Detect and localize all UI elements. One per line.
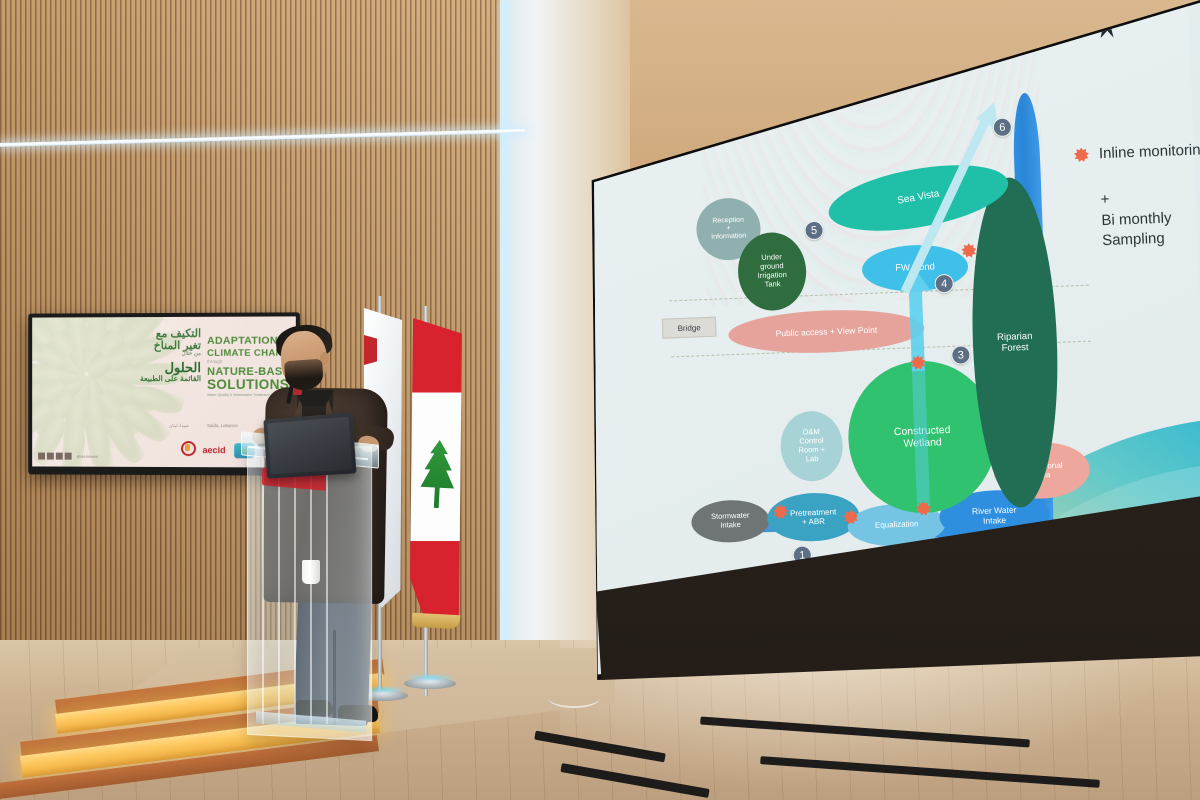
aecid-logo-text: aecid [202, 445, 225, 455]
banner-location-english: Saida, Lebanon [207, 423, 238, 428]
power-cable [548, 688, 600, 708]
led-video-wall: N Concept Plan Treatment Chain Awali Riv… [588, 0, 1200, 680]
flag-base-glow-lebanon [402, 674, 458, 681]
laptop[interactable] [263, 412, 356, 478]
facebook-icon [38, 453, 45, 460]
podium-rib-3 [294, 460, 296, 724]
linkedin-icon [65, 453, 72, 460]
institution-flag-emblem [364, 335, 377, 365]
twitter-icon [56, 453, 63, 460]
instagram-icon [47, 453, 54, 460]
slide-title-line-2: Treatment Chain [607, 71, 726, 98]
slide-title-line-1: Concept Plan [606, 48, 725, 75]
banner-arabic-line-4: الحلول [117, 361, 201, 375]
banner-en-adaptation: ADAPTATION [207, 335, 278, 347]
aecid-logo: aecid [181, 441, 226, 459]
podium-rib-2 [278, 458, 280, 724]
podium-rib-5 [326, 464, 328, 724]
presentation-photo: التكيف مع تغير المناخ من خلال الحلول الق… [0, 0, 1200, 800]
bridge-label: Bridge [662, 317, 717, 339]
lebanon-flag-fringe [412, 613, 461, 629]
legend-marker-icon [1074, 147, 1090, 163]
banner-arabic-line-3: من خلال [117, 352, 201, 358]
aecid-mark-icon [181, 441, 196, 456]
banner-arabic-line-5: القائمة على الطبيعة [117, 374, 201, 382]
banner-social-row: @nbs.lebanon [38, 453, 98, 460]
wall-edge-glow [497, 0, 513, 700]
podium-rib-4 [310, 462, 312, 724]
banner-arabic-line-1: التكيف مع [117, 329, 201, 341]
legend-inline-monitoring: Inline monitoring [1099, 140, 1200, 164]
svg-text:N: N [1114, 7, 1121, 17]
slide-title: Concept Plan Treatment Chain [606, 48, 725, 97]
slide-legend: Inline monitoring + Bi monthly Sampling [1074, 138, 1200, 252]
podium-rib-1 [262, 456, 264, 724]
paper-cup [302, 560, 320, 584]
banner-social-handle: @nbs.lebanon [77, 454, 99, 458]
banner-location-arabic: صيدا، لبنان [169, 423, 189, 429]
